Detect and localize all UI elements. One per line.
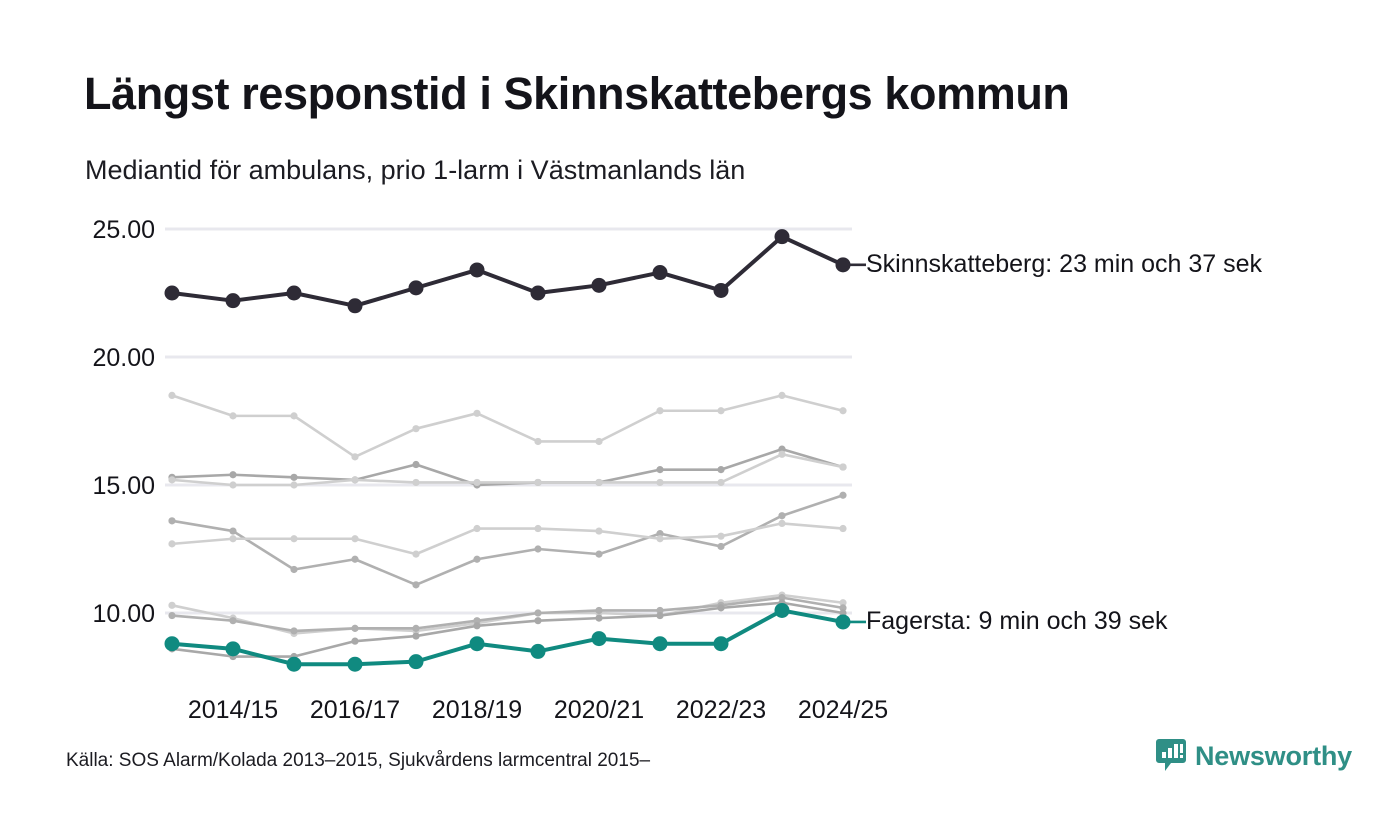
data-point-kommun-g — [168, 612, 175, 619]
data-point-Fagersta — [531, 644, 546, 659]
data-point-kommun-a — [778, 392, 785, 399]
series-line-kommun-e — [172, 523, 843, 554]
data-point-kommun-a — [534, 438, 541, 445]
series-line-kommun-b — [172, 449, 843, 485]
data-point-kommun-g — [595, 607, 602, 614]
y-tick-label: 10.00 — [92, 600, 155, 628]
y-tick-label: 25.00 — [92, 216, 155, 244]
annotation-fagersta: Fagersta: 9 min och 39 sek — [866, 607, 1168, 636]
data-point-kommun-c — [656, 479, 663, 486]
data-point-Fagersta — [592, 631, 607, 646]
annotation-leaders — [843, 265, 866, 622]
data-point-kommun-h — [717, 604, 724, 611]
data-point-kommun-h — [534, 617, 541, 624]
line-chart-svg: 10.0015.0020.0025.00 2014/152016/172018/… — [0, 0, 1400, 840]
data-point-Fagersta — [775, 603, 790, 618]
data-point-Skinnskatteberg — [348, 298, 363, 313]
data-point-Fagersta — [470, 636, 485, 651]
data-point-kommun-e — [778, 520, 785, 527]
data-point-kommun-a — [412, 425, 419, 432]
data-point-kommun-e — [473, 525, 480, 532]
series-line-kommun-c — [172, 454, 843, 485]
data-point-Skinnskatteberg — [531, 286, 546, 301]
data-point-kommun-h — [412, 632, 419, 639]
data-point-kommun-e — [351, 535, 358, 542]
data-point-kommun-e — [290, 535, 297, 542]
data-point-kommun-e — [839, 525, 846, 532]
x-tick-label: 2018/19 — [432, 696, 522, 724]
data-point-kommun-h — [473, 622, 480, 629]
data-point-kommun-g — [229, 617, 236, 624]
data-point-kommun-g — [290, 627, 297, 634]
data-point-kommun-g — [534, 609, 541, 616]
data-point-kommun-g — [412, 625, 419, 632]
data-point-kommun-d — [168, 517, 175, 524]
data-point-kommun-b — [412, 461, 419, 468]
series-line-kommun-a — [172, 395, 843, 456]
data-point-kommun-a — [351, 453, 358, 460]
data-point-kommun-a — [839, 407, 846, 414]
data-point-Fagersta — [165, 636, 180, 651]
series-group — [165, 229, 851, 672]
data-point-kommun-d — [412, 581, 419, 588]
newsworthy-logo: Newsworthy — [1156, 738, 1352, 774]
data-point-kommun-d — [229, 527, 236, 534]
data-point-kommun-h — [351, 638, 358, 645]
data-point-kommun-c — [412, 479, 419, 486]
data-point-kommun-d — [839, 492, 846, 499]
data-point-Skinnskatteberg — [653, 265, 668, 280]
data-point-kommun-c — [839, 463, 846, 470]
data-point-kommun-h — [656, 612, 663, 619]
data-point-kommun-a — [229, 412, 236, 419]
data-point-kommun-b — [290, 474, 297, 481]
data-point-Skinnskatteberg — [714, 283, 729, 298]
series-line-Skinnskatteberg — [172, 237, 843, 306]
data-point-Skinnskatteberg — [287, 286, 302, 301]
data-point-kommun-a — [717, 407, 724, 414]
data-point-kommun-a — [656, 407, 663, 414]
data-point-kommun-e — [412, 551, 419, 558]
data-point-kommun-c — [290, 481, 297, 488]
y-tick-label: 15.00 — [92, 472, 155, 500]
data-point-kommun-g — [351, 625, 358, 632]
x-tick-label: 2020/21 — [554, 696, 644, 724]
data-point-kommun-d — [351, 556, 358, 563]
bar-chart-bubble-icon — [1156, 738, 1186, 774]
data-point-kommun-a — [290, 412, 297, 419]
data-point-kommun-d — [473, 556, 480, 563]
data-point-kommun-b — [656, 466, 663, 473]
annotation-skinnskatteberg: Skinnskatteberg: 23 min och 37 sek — [866, 250, 1262, 279]
source-note: Källa: SOS Alarm/Kolada 2013–2015, Sjukv… — [66, 750, 650, 772]
gridlines-group — [165, 229, 852, 613]
data-point-kommun-d — [595, 551, 602, 558]
y-tick-label: 20.00 — [92, 344, 155, 372]
data-point-kommun-c — [473, 479, 480, 486]
data-point-kommun-a — [595, 438, 602, 445]
data-point-kommun-d — [778, 512, 785, 519]
x-tick-label: 2016/17 — [310, 696, 400, 724]
data-point-Fagersta — [287, 657, 302, 672]
data-point-kommun-c — [595, 479, 602, 486]
data-point-Skinnskatteberg — [409, 280, 424, 295]
data-point-Skinnskatteberg — [470, 262, 485, 277]
data-point-kommun-c — [778, 451, 785, 458]
data-point-Fagersta — [409, 654, 424, 669]
data-point-kommun-e — [229, 535, 236, 542]
data-point-kommun-e — [656, 535, 663, 542]
x-tick-label: 2014/15 — [188, 696, 278, 724]
data-point-kommun-d — [717, 543, 724, 550]
x-tick-label: 2024/25 — [798, 696, 888, 724]
data-point-Fagersta — [226, 641, 241, 656]
data-point-Fagersta — [653, 636, 668, 651]
data-point-kommun-c — [717, 479, 724, 486]
data-point-kommun-c — [534, 479, 541, 486]
data-point-Skinnskatteberg — [226, 293, 241, 308]
data-point-Skinnskatteberg — [592, 278, 607, 293]
data-point-kommun-a — [473, 410, 480, 417]
data-point-kommun-c — [168, 476, 175, 483]
x-axis-ticks: 2014/152016/172018/192020/212022/232024/… — [188, 696, 888, 724]
data-point-kommun-b — [229, 471, 236, 478]
chart-container: Längst responstid i Skinnskattebergs kom… — [0, 0, 1400, 840]
data-point-Skinnskatteberg — [775, 229, 790, 244]
data-point-kommun-f — [168, 602, 175, 609]
data-point-kommun-e — [717, 533, 724, 540]
data-point-kommun-d — [290, 566, 297, 573]
data-point-kommun-c — [351, 476, 358, 483]
data-point-Fagersta — [348, 657, 363, 672]
y-axis-ticks: 10.0015.0020.0025.00 — [92, 216, 155, 628]
data-point-kommun-h — [595, 615, 602, 622]
data-point-kommun-e — [534, 525, 541, 532]
data-point-kommun-e — [168, 540, 175, 547]
logo-wordmark: Newsworthy — [1195, 741, 1352, 772]
data-point-kommun-a — [168, 392, 175, 399]
data-point-kommun-b — [717, 466, 724, 473]
data-point-Skinnskatteberg — [165, 286, 180, 301]
data-point-kommun-d — [534, 545, 541, 552]
data-point-kommun-c — [229, 481, 236, 488]
data-point-Fagersta — [714, 636, 729, 651]
x-tick-label: 2022/23 — [676, 696, 766, 724]
data-point-kommun-e — [595, 527, 602, 534]
